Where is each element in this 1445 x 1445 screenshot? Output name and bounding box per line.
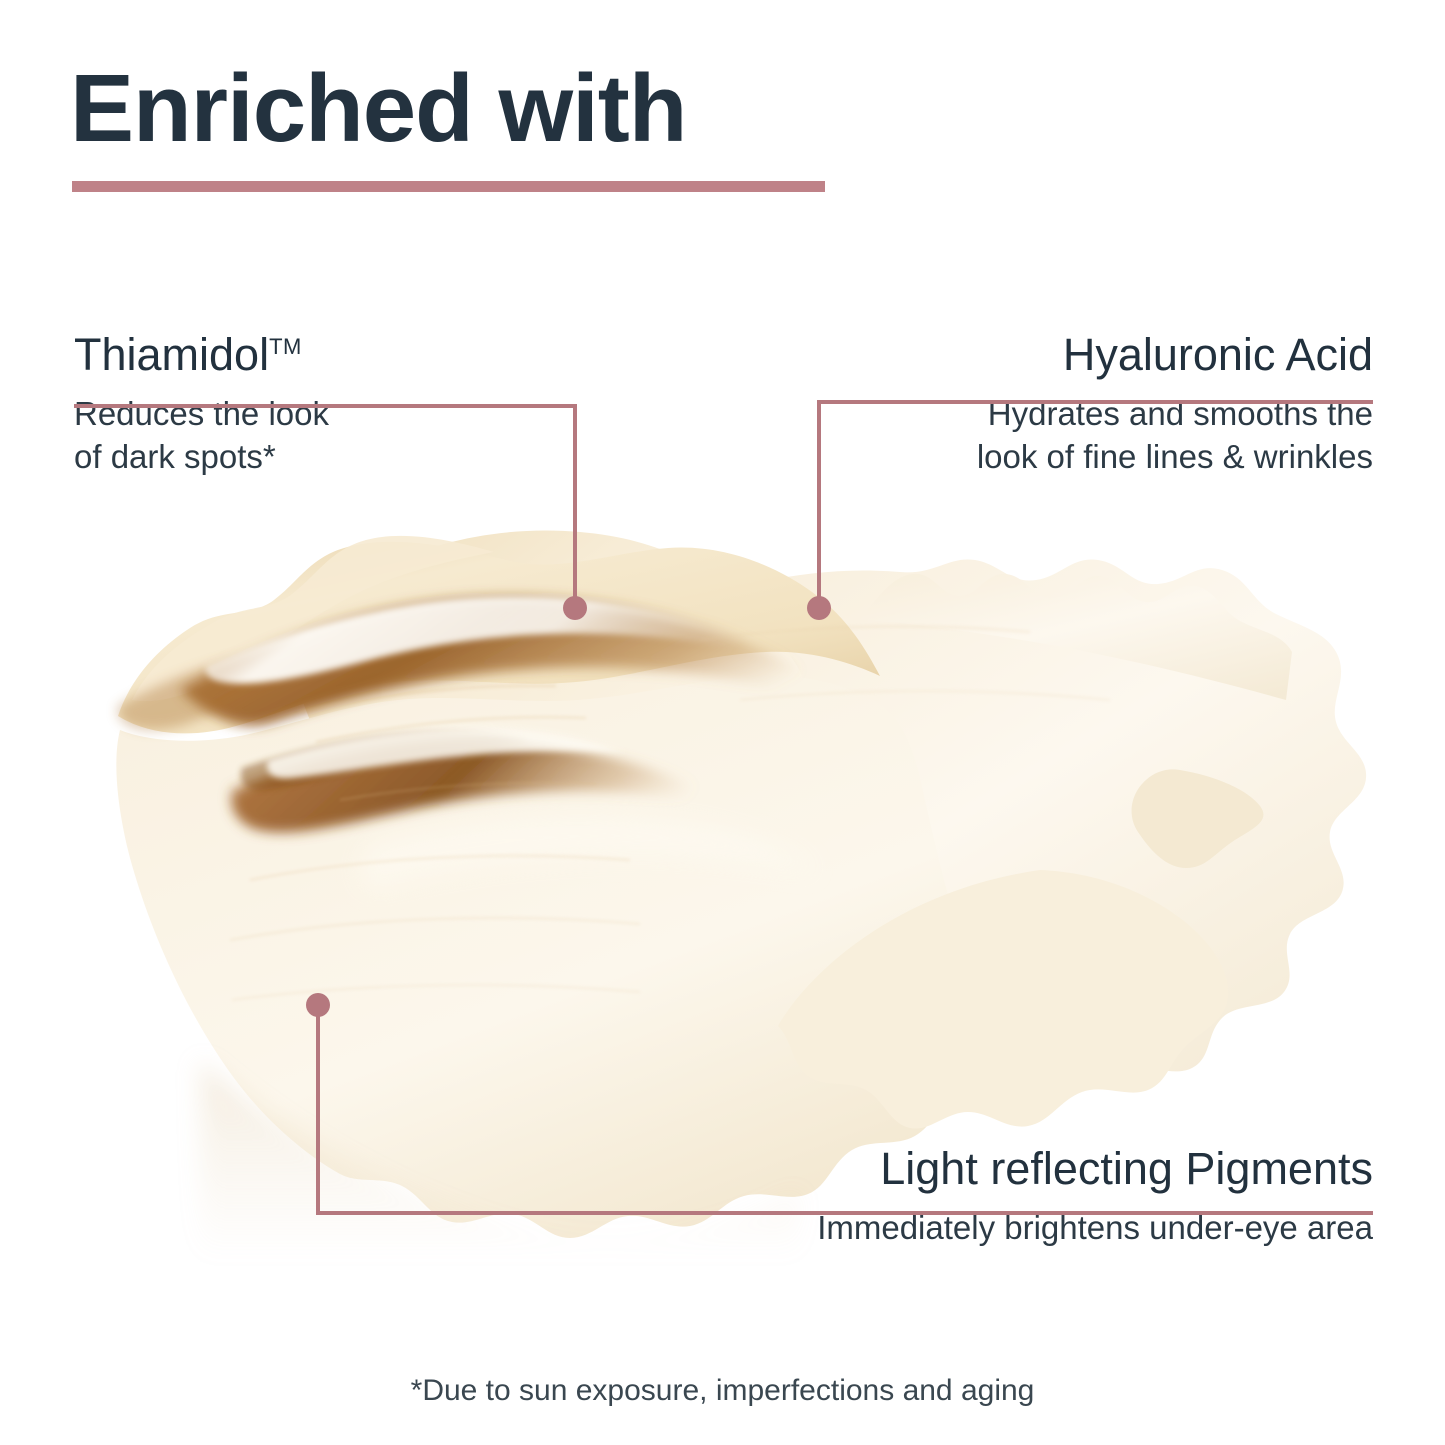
swatch-right-lobe [674,559,1366,1086]
swatch-right-tail [778,870,1228,1129]
callout-dot-hyaluronic [807,596,831,620]
body-sheen [360,815,816,889]
footnote-text: *Due to sun exposure, imperfections and … [0,1374,1445,1408]
leader-line-hyaluronic-horizontal [817,400,1373,404]
title-underline-rule [72,181,825,192]
page-title: Enriched with [70,58,686,160]
callout-hyaluronic-desc-line-2: look of fine lines & wrinkles [977,436,1373,478]
leader-line-thiamidol-horizontal [74,404,577,408]
texture-streaks [230,626,1110,1000]
callout-thiamidol-title: ThiamidolTM [74,330,329,380]
callout-hyaluronic-description: Hydrates and smooths the look of fine li… [977,393,1373,477]
ridge-highlight-upper [206,596,780,684]
leader-line-pigments-vertical [316,1005,320,1213]
callout-hyaluronic-title: Hyaluronic Acid [977,330,1373,380]
callout-thiamidol-title-text: Thiamidol [74,329,269,380]
trademark-symbol: TM [269,334,302,359]
callout-thiamidol-desc-line-2: of dark spots* [74,436,329,478]
callout-pigments: Light reflecting Pigments Immediately br… [817,1144,1373,1250]
swatch-right-tip [1132,769,1264,868]
leader-line-pigments-horizontal [316,1211,1373,1215]
infographic-canvas: Enriched with [0,0,1445,1445]
leader-line-hyaluronic-vertical [817,400,821,608]
callout-dot-thiamidol [563,596,587,620]
swatch-scallop-edge [860,574,1292,700]
swatch-top-fold [132,536,494,701]
ridge-shadow-deep-left [241,732,530,790]
ridge-shadow-left [118,655,300,730]
ridge-highlight-mid [267,728,624,779]
callout-pigments-title: Light reflecting Pigments [817,1144,1373,1194]
ridge-shadow-mid [231,740,728,832]
callout-dot-pigments [306,993,330,1017]
edge-shade-bottom [200,1060,800,1260]
leader-line-thiamidol-vertical [573,404,577,608]
callout-thiamidol-desc-line-1: Reduces the look [74,393,329,435]
ridge-shadow-upper [180,597,860,725]
swatch-upper-crest [118,542,880,734]
